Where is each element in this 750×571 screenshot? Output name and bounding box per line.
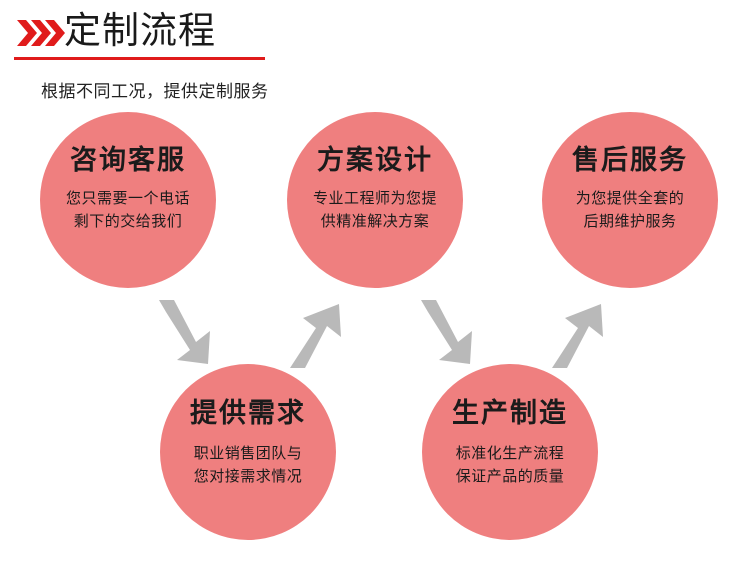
flow-node-design[interactable]: 方案设计 专业工程师为您提 供精准解决方案 bbox=[287, 112, 463, 288]
flow-node-desc-line2: 剩下的交给我们 bbox=[66, 211, 190, 234]
flow-node-desc-line1: 专业工程师为您提 bbox=[313, 188, 437, 211]
arrow-up-right-icon bbox=[282, 298, 346, 370]
flow-node-title: 咨询客服 bbox=[70, 144, 186, 176]
flow-node-desc-line1: 您只需要一个电话 bbox=[66, 188, 190, 211]
arrow-down-right-icon bbox=[152, 298, 216, 370]
process-flow-diagram: 咨询客服 您只需要一个电话 剩下的交给我们 方案设计 专业工程师为您提 供精准解… bbox=[0, 0, 750, 571]
flow-node-title: 售后服务 bbox=[572, 144, 688, 176]
flow-node-description: 为您提供全套的 后期维护服务 bbox=[576, 188, 685, 234]
flow-node-desc-line2: 后期维护服务 bbox=[576, 211, 685, 234]
flow-node-desc-line2: 保证产品的质量 bbox=[456, 466, 565, 489]
flow-node-requirements[interactable]: 提供需求 职业销售团队与 您对接需求情况 bbox=[160, 364, 336, 540]
slide-canvas: 定制流程 根据不同工况，提供定制服务 咨询 bbox=[0, 0, 750, 571]
flow-node-description: 职业销售团队与 您对接需求情况 bbox=[194, 443, 303, 489]
flow-node-description: 专业工程师为您提 供精准解决方案 bbox=[313, 188, 437, 234]
flow-node-manufacture[interactable]: 生产制造 标准化生产流程 保证产品的质量 bbox=[422, 364, 598, 540]
flow-node-title: 方案设计 bbox=[317, 144, 433, 176]
flow-node-title: 提供需求 bbox=[190, 397, 306, 429]
flow-node-desc-line2: 供精准解决方案 bbox=[313, 211, 437, 234]
flow-node-desc-line1: 职业销售团队与 bbox=[194, 443, 303, 466]
flow-node-consult[interactable]: 咨询客服 您只需要一个电话 剩下的交给我们 bbox=[40, 112, 216, 288]
flow-node-desc-line2: 您对接需求情况 bbox=[194, 466, 303, 489]
flow-node-desc-line1: 为您提供全套的 bbox=[576, 188, 685, 211]
flow-node-desc-line1: 标准化生产流程 bbox=[456, 443, 565, 466]
flow-node-description: 您只需要一个电话 剩下的交给我们 bbox=[66, 188, 190, 234]
arrow-down-right-icon bbox=[414, 298, 478, 370]
arrow-up-right-icon bbox=[544, 298, 608, 370]
flow-node-description: 标准化生产流程 保证产品的质量 bbox=[456, 443, 565, 489]
flow-node-title: 生产制造 bbox=[452, 397, 568, 429]
flow-node-after-sales[interactable]: 售后服务 为您提供全套的 后期维护服务 bbox=[542, 112, 718, 288]
